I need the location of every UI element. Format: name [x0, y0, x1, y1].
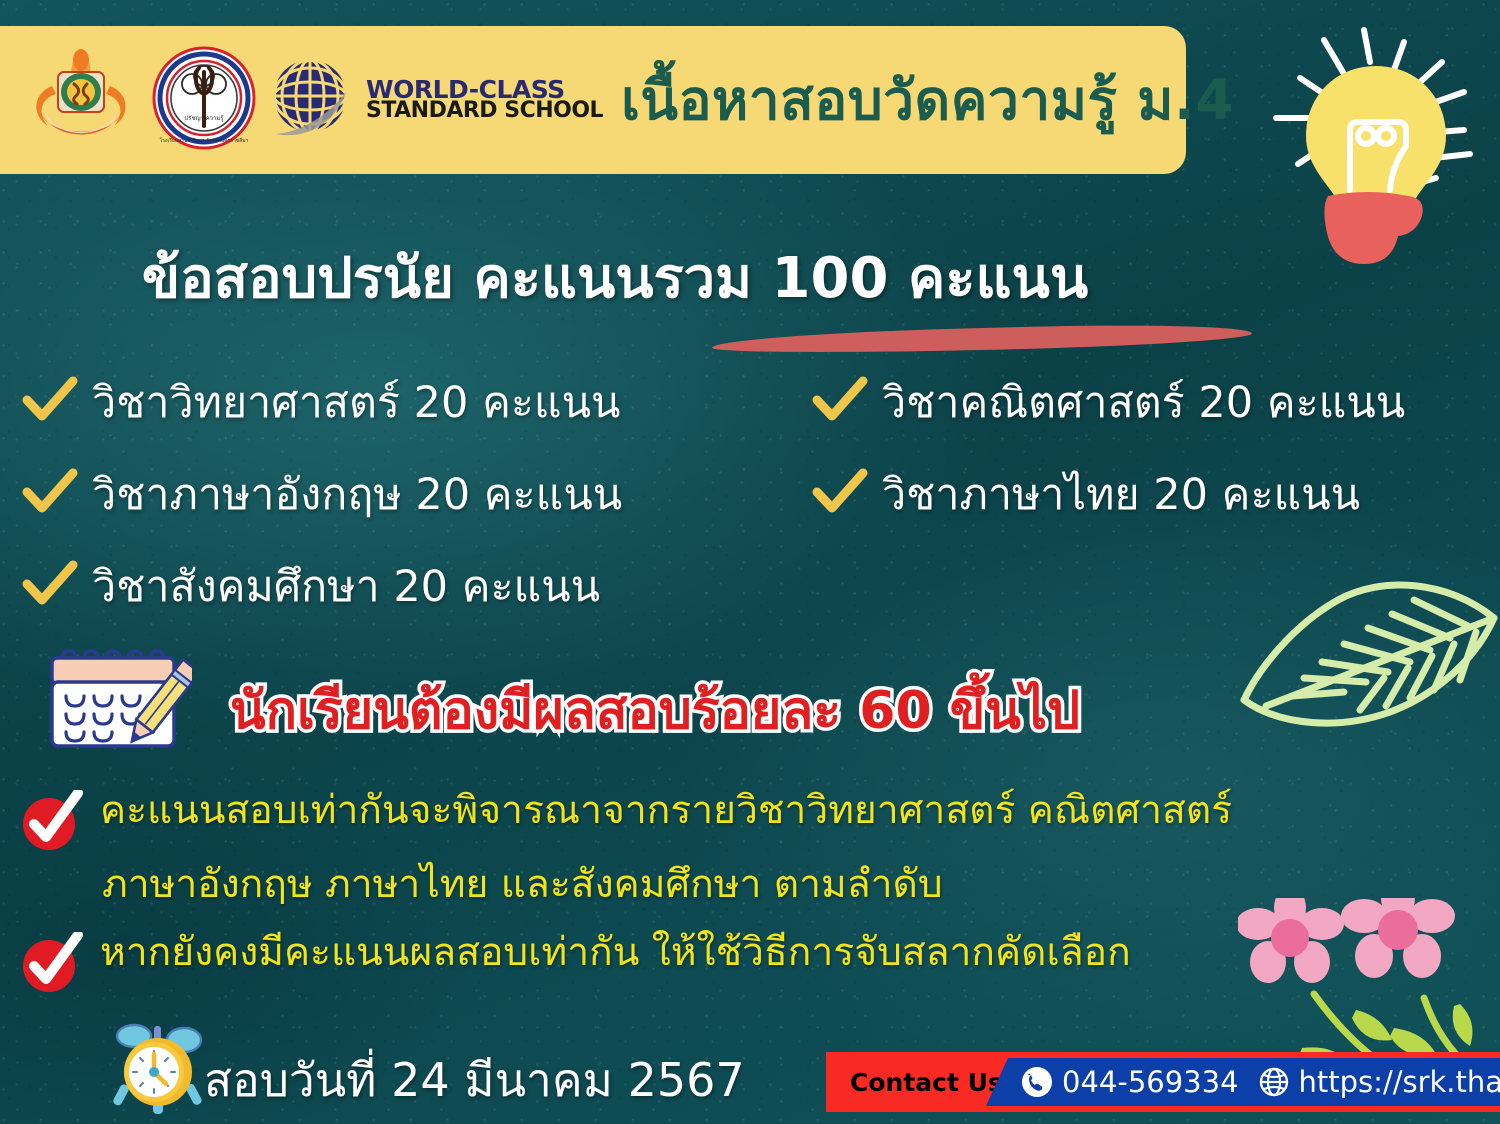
- notes-list: คะแนนสอบเท่ากันจะพิจารณาจากรายวิชาวิทยาศ…: [18, 786, 1338, 1002]
- red-badge-check-icon: [18, 932, 84, 998]
- contact-details: 044-569334 https://srk.thai.ac: [986, 1058, 1500, 1106]
- gold-check-icon: [812, 375, 868, 429]
- gold-check-icon: [22, 467, 78, 521]
- school-seal-icon: ปรัชญา ความรู้ โรงเรียนสุรนารีวิทยา จังห…: [152, 46, 256, 154]
- alarm-clock-icon: [104, 1022, 212, 1122]
- header-band: ปรัชญา ความรู้ โรงเรียนสุรนารีวิทยา จังห…: [0, 26, 1186, 174]
- subject-label-english: วิชาภาษาอังกฤษ 20 คะแนน: [92, 460, 622, 528]
- subject-score-list: วิชาวิทยาศาสตร์ 20 คะแนน วิชาคณิตศาสตร์ …: [22, 368, 1472, 620]
- subject-row-social-studies: วิชาสังคมศึกษา 20 คะแนน: [22, 552, 812, 620]
- calendar-pencil-icon: [42, 644, 192, 760]
- main-heading: ข้อสอบปรนัย คะแนนรวม 100 คะแนน: [0, 248, 1230, 310]
- note-row-tiebreak-subjects: คะแนนสอบเท่ากันจะพิจารณาจากรายวิชาวิทยาศ…: [18, 786, 1338, 856]
- subject-label-science: วิชาวิทยาศาสตร์ 20 คะแนน: [92, 368, 620, 436]
- red-badge-check-icon: [18, 790, 84, 856]
- page-title: เนื้อหาสอบวัดความรู้ ม.4: [621, 73, 1234, 128]
- subject-row-mathematics: วิชาคณิตศาสตร์ 20 คะแนน: [812, 368, 1472, 436]
- wcss-line2: STANDARD SCHOOL: [366, 101, 603, 122]
- ministry-of-education-emblem-icon: [22, 42, 140, 158]
- phone-icon: [1022, 1067, 1052, 1097]
- contact-website[interactable]: https://srk.thai.ac: [1299, 1065, 1500, 1099]
- gold-check-icon: [812, 467, 868, 521]
- world-class-standard-school-logo-icon: WORLD-CLASS STANDARD SCHOOL: [266, 52, 603, 148]
- gold-check-icon: [22, 375, 78, 429]
- subject-label-thai: วิชาภาษาไทย 20 คะแนน: [882, 460, 1360, 528]
- exam-date: สอบวันที่ 24 มีนาคม 2567: [204, 1044, 745, 1117]
- heading-brush-underline: [712, 321, 1252, 356]
- poster-canvas: ปรัชญา ความรู้ โรงเรียนสุรนารีวิทยา จังห…: [0, 0, 1500, 1124]
- subject-label-mathematics: วิชาคณิตศาสตร์ 20 คะแนน: [882, 368, 1405, 436]
- svg-text:โรงเรียนสุรนารีวิทยา จังหวัดนค: โรงเรียนสุรนารีวิทยา จังหวัดนครราชสีมา: [160, 137, 249, 144]
- subject-row-english: วิชาภาษาอังกฤษ 20 คะแนน: [22, 460, 812, 528]
- note-text-tiebreak-subjects-line1: คะแนนสอบเท่ากันจะพิจารณาจากรายวิชาวิทยาศ…: [100, 786, 1232, 836]
- contact-label: Contact Us: [850, 1068, 1003, 1097]
- subject-row-science: วิชาวิทยาศาสตร์ 20 คะแนน: [22, 368, 812, 436]
- subject-row-thai: วิชาภาษาไทย 20 คะแนน: [812, 460, 1472, 528]
- lightbulb-icon: [1258, 22, 1494, 288]
- passing-score-requirement: นักเรียนต้องมีผลสอบร้อยละ 60 ขึ้นไป: [230, 668, 1080, 751]
- gold-check-icon: [22, 559, 78, 613]
- note-text-tiebreak-subjects-line2: ภาษาอังกฤษ ภาษาไทย และสังคมศึกษา ตามลำดั…: [102, 860, 1338, 910]
- globe-icon: [1259, 1067, 1289, 1097]
- svg-text:ปรัชญา ความรู้: ปรัชญา ความรู้: [184, 115, 224, 122]
- contact-phone[interactable]: 044-569334: [1062, 1065, 1239, 1099]
- note-row-lottery: หากยังคงมีคะแนนผลสอบเท่ากัน ให้ใช้วิธีกา…: [18, 928, 1338, 998]
- note-text-lottery: หากยังคงมีคะแนนผลสอบเท่ากัน ให้ใช้วิธีกา…: [100, 928, 1131, 978]
- subject-label-social-studies: วิชาสังคมศึกษา 20 คะแนน: [92, 552, 600, 620]
